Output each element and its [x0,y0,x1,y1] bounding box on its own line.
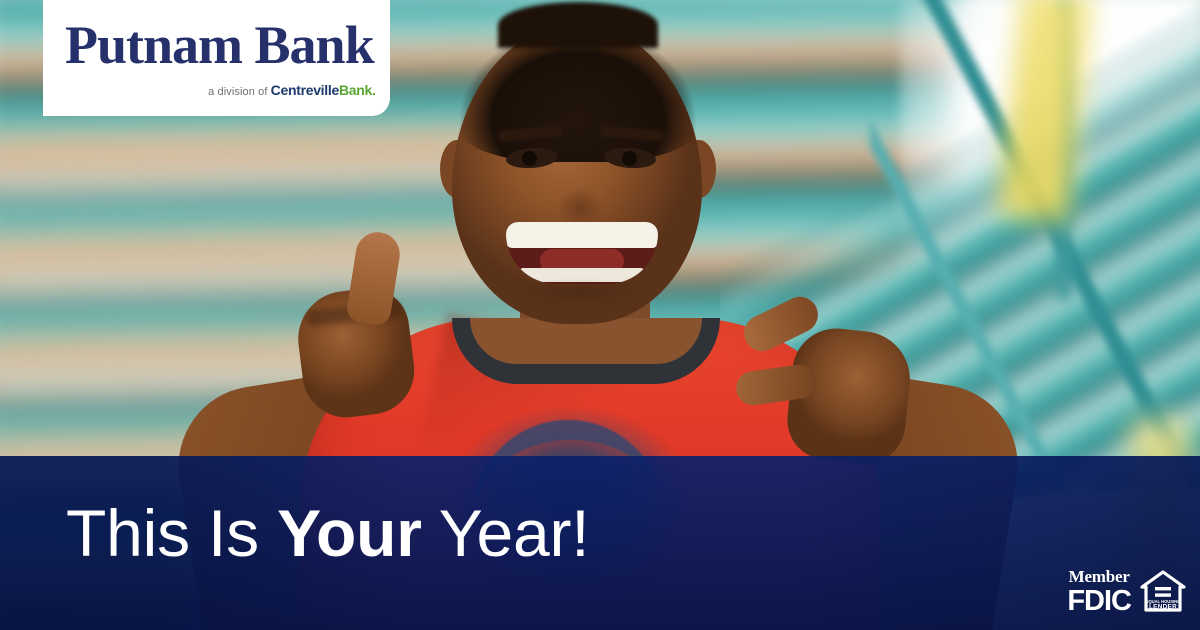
tagline-centreville: Centreville [271,82,339,98]
headline: This Is Your Year! [66,500,589,566]
fdic-member-label: Member [1069,568,1130,585]
marketing-banner: This Is Your Year! Putnam Bank a divisio… [0,0,1200,630]
ehl-bottom-label: LENDER [1149,603,1177,610]
tagline-period: . [372,82,376,98]
tagline-prefix: a division of [208,86,271,98]
equal-housing-lender-icon: EQUAL HOUSING LENDER [1140,570,1186,614]
headline-emphasis: Your [277,496,422,570]
putnam-bank-wordmark: Putnam Bank [65,14,374,76]
fdic-label: FDIC [1067,587,1131,616]
fdic-badge: Member FDIC [1067,568,1131,616]
tagline-bank: Bank [339,82,372,98]
compliance-badges: Member FDIC EQUAL HOUSING LENDER [1067,568,1186,616]
headline-part-1: This Is [66,496,277,570]
headline-part-2: Year! [422,496,590,570]
logo-card[interactable]: Putnam Bank a division of CentrevilleBan… [43,0,390,116]
division-tagline: a division of CentrevilleBank. [208,82,376,98]
